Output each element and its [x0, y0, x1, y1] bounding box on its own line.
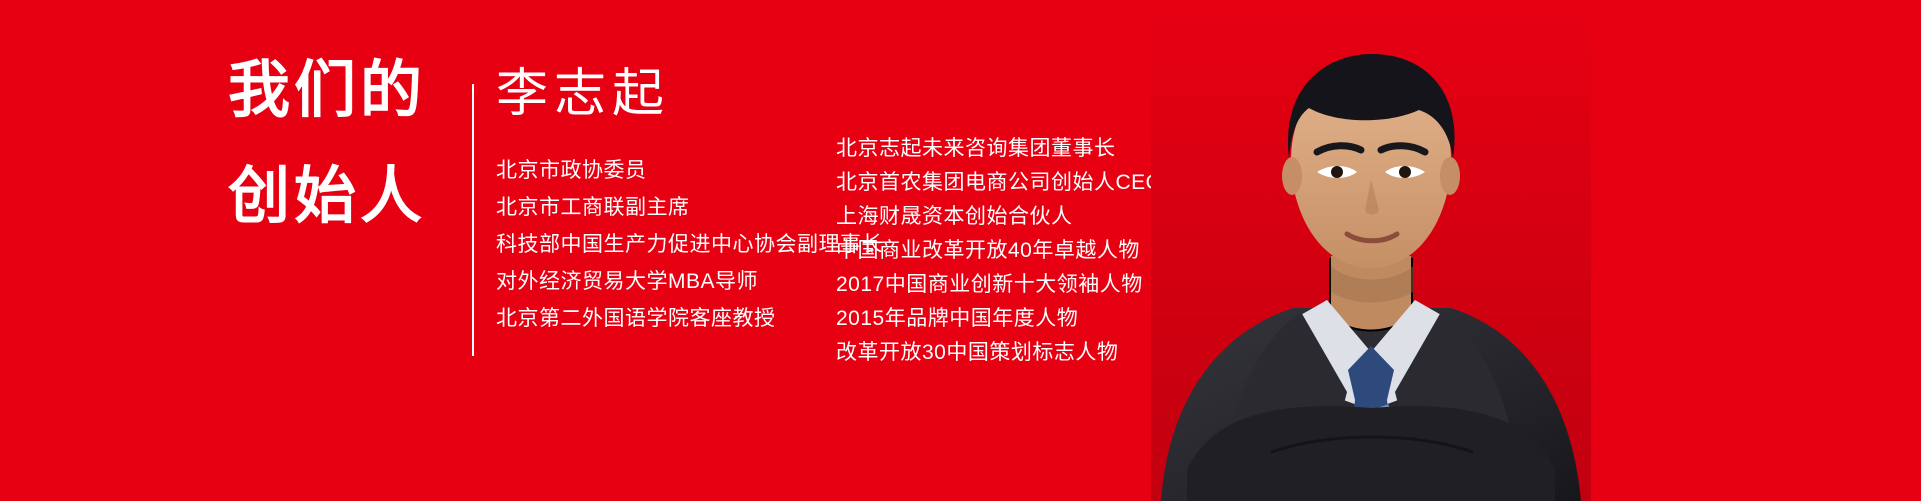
list-item: 2017中国商业创新十大领袖人物	[836, 274, 1163, 295]
list-item: 上海财晟资本创始合伙人	[836, 206, 1163, 227]
founder-portrait-image	[1151, 0, 1591, 501]
list-item: 北京市工商联副主席	[496, 197, 883, 218]
list-item: 北京志起未来咨询集团董事长	[836, 138, 1163, 159]
headline-line-1: 我们的	[228, 52, 468, 130]
list-item: 北京第二外国语学院客座教授	[496, 308, 883, 329]
list-item: 北京首农集团电商公司创始人CEO	[836, 172, 1163, 193]
vertical-divider	[472, 84, 474, 356]
headline-line-2: 创始人	[228, 158, 468, 236]
list-item: 对外经济贸易大学MBA导师	[496, 271, 883, 292]
list-item: 2015年品牌中国年度人物	[836, 308, 1163, 329]
list-item: 北京市政协委员	[496, 160, 883, 181]
founder-banner: 我们的 创始人 李志起 北京市政协委员 北京市工商联副主席 科技部中国生产力促进…	[0, 0, 1921, 501]
list-item: 中国商业改革开放40年卓越人物	[836, 240, 1163, 261]
founder-name: 李志起	[496, 64, 670, 126]
pupil-left	[1331, 166, 1343, 178]
crossed-arms	[1187, 406, 1555, 501]
credentials-left-column: 北京市政协委员 北京市工商联副主席 科技部中国生产力促进中心协会副理事长 对外经…	[496, 160, 883, 345]
list-item: 科技部中国生产力促进中心协会副理事长	[496, 234, 883, 255]
page-title: 我们的 创始人	[228, 52, 468, 236]
pupil-right	[1399, 166, 1411, 178]
ear-left	[1282, 157, 1302, 195]
ear-right	[1440, 157, 1460, 195]
credentials-right-column: 北京志起未来咨询集团董事长 北京首农集团电商公司创始人CEO 上海财晟资本创始合…	[836, 138, 1163, 376]
list-item: 改革开放30中国策划标志人物	[836, 342, 1163, 363]
portrait-illustration	[1151, 0, 1591, 501]
